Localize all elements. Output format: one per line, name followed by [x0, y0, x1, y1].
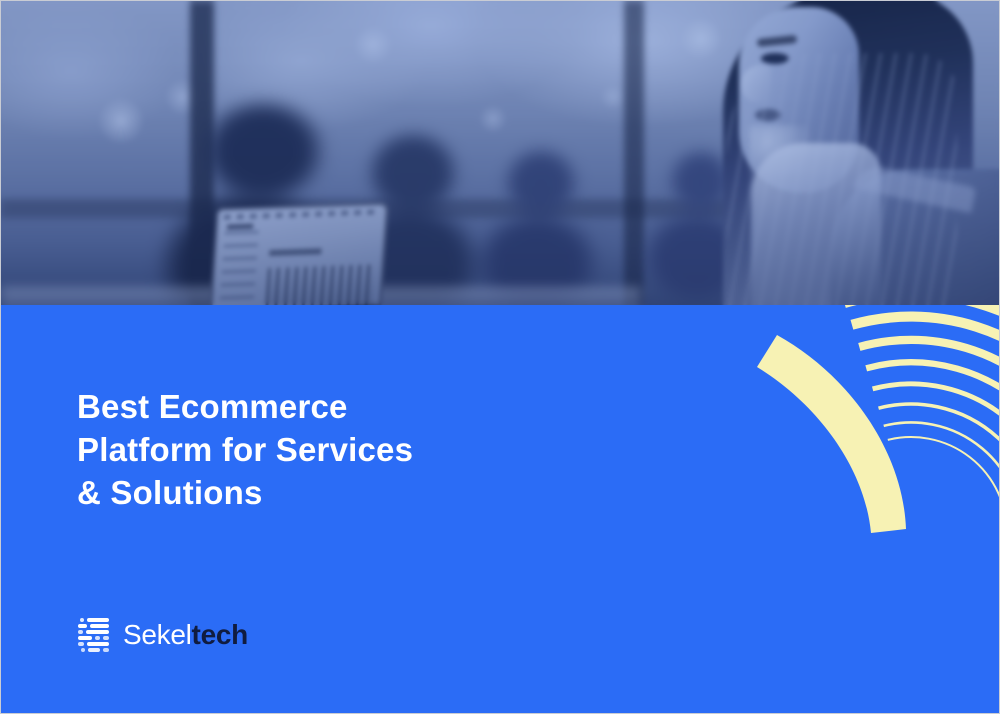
sekel-dashes-mark — [77, 617, 111, 653]
swirl-arc-pattern — [581, 305, 1000, 714]
headline-line-3: & Solutions — [77, 471, 547, 514]
page-title: Best Ecommerce Platform for Services & S… — [77, 385, 547, 514]
headline-line-2: Platform for Services — [77, 428, 547, 471]
promo-slide: Best Ecommerce Platform for Services & S… — [0, 0, 1000, 714]
hero-photo — [1, 1, 1000, 305]
headline-line-1: Best Ecommerce — [77, 385, 547, 428]
logo-word-sekel: Sekel — [123, 619, 192, 650]
brand-logo[interactable]: Sekeltech — [77, 617, 248, 653]
photo-blur-overlay — [1, 1, 1000, 305]
logo-wordmark: Sekeltech — [123, 621, 248, 649]
swirl-arc — [827, 305, 1000, 714]
logo-word-tech: tech — [192, 619, 248, 650]
